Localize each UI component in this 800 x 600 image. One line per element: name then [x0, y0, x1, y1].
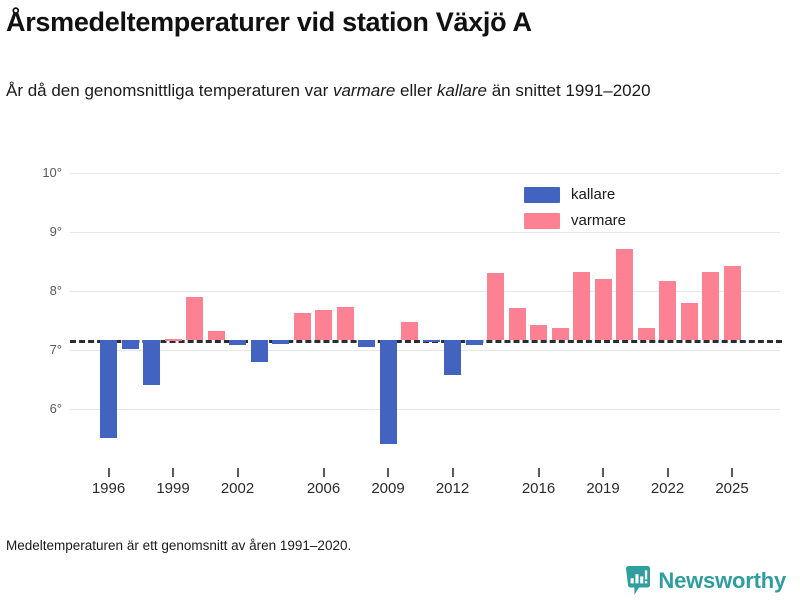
bar-2022[interactable] — [659, 281, 676, 340]
bar-2004[interactable] — [272, 340, 289, 344]
bar-2018[interactable] — [573, 272, 590, 340]
bar-2017[interactable] — [552, 328, 569, 340]
bar-2019[interactable] — [595, 279, 612, 340]
legend-swatch-kallare — [524, 187, 560, 203]
legend-item-varmare[interactable]: varmare — [524, 212, 626, 229]
bar-2007[interactable] — [337, 307, 354, 340]
chart-legend: kallarevarmare — [524, 186, 626, 229]
bar-2014[interactable] — [487, 273, 504, 340]
bar-2006[interactable] — [315, 310, 332, 340]
bar-2003[interactable] — [251, 340, 268, 362]
bar-2016[interactable] — [530, 325, 547, 340]
bar-2002[interactable] — [229, 340, 246, 345]
legend-swatch-varmare — [524, 213, 560, 229]
bar-2000[interactable] — [186, 297, 203, 340]
bar-1998[interactable] — [143, 340, 160, 385]
legend-label-varmare: varmare — [571, 212, 626, 229]
bar-2005[interactable] — [294, 313, 311, 340]
bar-2010[interactable] — [401, 322, 418, 340]
bar-2008[interactable] — [358, 340, 375, 347]
bar-2011[interactable] — [423, 340, 440, 342]
bar-1999[interactable] — [165, 339, 182, 341]
bar-2001[interactable] — [208, 331, 225, 340]
brand-name: Newsworthy — [658, 568, 786, 594]
legend-label-kallare: kallare — [571, 186, 615, 203]
bar-series-container — [0, 0, 800, 600]
bar-1997[interactable] — [122, 340, 139, 349]
bar-2020[interactable] — [616, 249, 633, 340]
bar-2025[interactable] — [724, 266, 741, 340]
footnote: Medeltemperaturen är ett genomsnitt av å… — [6, 538, 706, 553]
bar-2009[interactable] — [380, 340, 397, 444]
bar-2013[interactable] — [466, 340, 483, 345]
bar-chart-bubble-icon — [625, 566, 651, 596]
bar-2023[interactable] — [681, 303, 698, 340]
bar-1996[interactable] — [100, 340, 117, 439]
chart-page: Årsmedeltemperaturer vid station Växjö A… — [0, 0, 800, 600]
bar-2024[interactable] — [702, 272, 719, 340]
bar-2015[interactable] — [509, 308, 526, 340]
legend-item-kallare[interactable]: kallare — [524, 186, 626, 203]
bar-2012[interactable] — [444, 340, 461, 375]
brand-logo: Newsworthy — [625, 566, 786, 596]
bar-2021[interactable] — [638, 328, 655, 340]
